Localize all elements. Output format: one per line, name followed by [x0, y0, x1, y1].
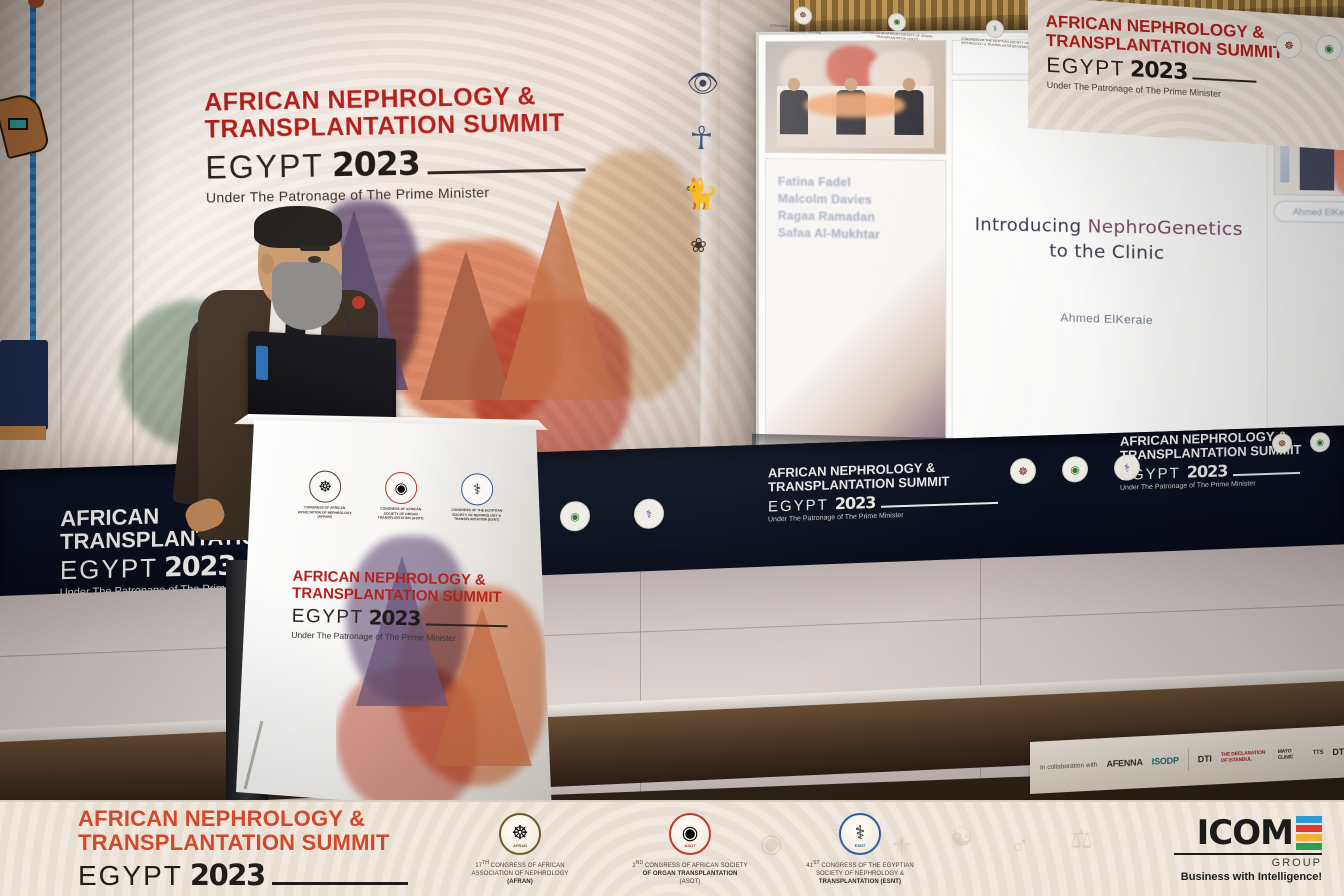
dark-banner-right-rule [1233, 472, 1300, 476]
afran-logo-icon: ☸ [1010, 458, 1036, 485]
bottom-bar-country: EGYPT [78, 860, 183, 892]
feather-icon: ❀ [690, 236, 707, 256]
dark-banner-mid-country: EGYPT [768, 497, 829, 516]
podium-title-line2: TRANSPLANTATION SUMMIT [292, 585, 508, 607]
afran-caption: 17TH CONGRESS OF AFRICAN ASSOCIATION OF … [456, 859, 584, 886]
partner-logo-afenna: AFENNA [1106, 757, 1142, 769]
partner-logo-declaration-of-istanbul: THE DECLARATION OF ISTANBUL [1221, 749, 1269, 764]
dark-banner-right-country: EGYPT [1120, 465, 1181, 484]
afran-caption: CONGRESS OF AFRICAN ASSOCIATION OF NEPHR… [768, 23, 838, 36]
bottom-logo-asot: ◉ ASOT 2ND CONGRESS OF AFRICAN SOCIETY O… [626, 813, 754, 886]
slide-title: Introducing NephroGenetics to the Clinic [975, 212, 1243, 268]
bastet-cat-icon: 🐈 [681, 180, 719, 211]
asot-caption: CONGRESS OF AFRICAN SOCIETY OF ORGAN TRA… [858, 29, 936, 42]
afran-caption: CONGRESS OF AFRICAN ASSOCIATION OF NEPHR… [298, 505, 352, 520]
bottom-bar-logo-row: ☸ AFRAN 17TH CONGRESS OF AFRICAN ASSOCIA… [456, 813, 924, 886]
esnt-seal-icon: ⚕ [461, 473, 494, 506]
conference-stage-photo: 👁 ☥ 🐈 ❀ AFRICAN NEPHROLOGY & TRANSPLANTA… [0, 0, 1344, 896]
afran-caption-rest: CONGRESS OF AFRICAN [489, 863, 565, 869]
podium-year: 2023 [368, 605, 420, 630]
esnt-seal-icon: ⚕ [986, 19, 1004, 38]
afran-caption-line3: (AFRAN) [507, 879, 533, 885]
afran-seal-icon: ☸ [794, 5, 812, 24]
bottom-bar-year: 2023 [190, 858, 265, 892]
asot-caption: 2ND CONGRESS OF AFRICAN SOCIETY OF ORGAN… [626, 859, 754, 886]
sponsor-name: ICOM [1197, 816, 1293, 850]
backdrop-year: 2023 [331, 144, 420, 185]
podium-logo-esnt: ⚕ CONGRESS OF THE EGYPTIAN SOCIETY OF NE… [450, 473, 505, 523]
collaboration-label: In collaboration with [1040, 761, 1097, 771]
asot-caption-line2: OF ORGAN TRANSPLANTATION [643, 871, 738, 877]
slide-title-line2: to the Clinic [1049, 240, 1164, 263]
speaker-eye [308, 256, 321, 263]
ankh-icon: ☥ [689, 122, 714, 155]
bottom-bar-rule [272, 882, 408, 885]
microphone-head-icon [352, 296, 365, 309]
hieroglyph-column: 👁 ☥ 🐈 ❀ [672, 69, 726, 390]
esnt-caption-line2: SOCIETY OF NEPHROLOGY & [816, 871, 904, 877]
bottom-bar-title-block: AFRICAN NEPHROLOGY & TRANSPLANTATION SUM… [78, 807, 408, 892]
dark-banner-left-country: EGYPT [60, 553, 158, 587]
ghost-logo-6: ⚖ [1070, 824, 1093, 855]
podium-logo-row: ☸ CONGRESS OF AFRICAN ASSOCIATION OF NEP… [298, 470, 505, 522]
dark-banner-left-year: 2023 [164, 551, 235, 584]
asot-seal-icon: ◉ [385, 472, 418, 505]
asot-seal-icon: ◉ [888, 12, 906, 31]
afran-seal-icon: ☸ AFRAN [499, 813, 541, 855]
asot-caption-rest: CONGRESS OF AFRICAN SOCIETY [643, 863, 747, 869]
upper-wall-banner: AFRICAN NEPHROLOGY & TRANSPLANTATION SUM… [1028, 0, 1344, 150]
podium-panel: ☸ CONGRESS OF AFRICAN ASSOCIATION OF NEP… [236, 420, 552, 816]
afran-caption-sup: TH [482, 860, 489, 866]
esnt-caption-rest: CONGRESS OF THE EGYPTIAN [820, 863, 914, 869]
partner-logo-dti-2: DTI [1332, 746, 1344, 757]
asot-caption: CONGRESS OF AFRICAN SOCIETY OF ORGAN TRA… [374, 507, 428, 522]
asot-seal-abbr: ASOT [671, 843, 709, 848]
backdrop-title-block: AFRICAN NEPHROLOGY & TRANSPLANTATION SUM… [204, 82, 586, 205]
esnt-caption: CONGRESS OF THE EGYPTIAN SOCIETY OF NEPH… [450, 508, 504, 523]
bottom-bar-title-line2: TRANSPLANTATION SUMMIT [78, 831, 408, 855]
upper-banner-rule [1192, 77, 1256, 82]
dark-banner-left-logos: ◉ ⚕ [560, 498, 664, 531]
laptop-sticker [256, 346, 268, 381]
backdrop-title-line2: TRANSPLANTATION SUMMIT [204, 109, 584, 143]
esnt-caption-sup: ST [813, 860, 820, 866]
asot-logo-icon: ◉ [1316, 34, 1342, 62]
panelist-name: Safaa Al-Mukhtar [778, 224, 935, 244]
ghost-logo-5: ♂ [1010, 830, 1030, 861]
bottom-brand-bar: ◉ ⚛ ⚜ ☯ ♂ ⚖ AFRICAN NEPHROLOGY & TRANSPL… [0, 800, 1344, 896]
esnt-seal-icon: ⚕ ESNT [839, 813, 881, 855]
esnt-caption: CONGRESS OF THE EGYPTIAN SOCIETY OF NEPH… [956, 36, 1034, 49]
podium-country: EGYPT [292, 606, 364, 630]
upper-banner-country: EGYPT [1046, 54, 1125, 82]
dark-banner-right-logos: ☸ ◉ [1272, 432, 1330, 454]
dark-banner-mid-rule [881, 502, 998, 508]
partner-logo-dti: DTI [1198, 753, 1212, 764]
partner-logo-mayo-clinic: MAYO CLINIC [1278, 748, 1304, 761]
esnt-seal-abbr: ESNT [841, 843, 879, 848]
dark-banner-mid-year: 2023 [835, 493, 876, 513]
sponsor-tagline: Business with Intelligence! [1174, 871, 1322, 883]
asot-logo-icon: ◉ [1062, 456, 1088, 483]
asot-caption-line3: (ASOT) [680, 879, 701, 885]
bottom-logo-esnt: ⚕ ESNT 41ST CONGRESS OF THE EGYPTIAN SOC… [796, 813, 924, 886]
podium-logo-asot: ◉ CONGRESS OF AFRICAN SOCIETY OF ORGAN T… [374, 472, 429, 522]
asot-seal-icon: ◉ ASOT [669, 813, 711, 855]
afran-seal-icon: ☸ [309, 470, 342, 503]
esnt-caption-line3: TRANSPLANTATION (ESNT) [819, 879, 901, 885]
podium-rule [425, 624, 507, 628]
upper-banner-logos: ☸ ◉ [1276, 31, 1342, 62]
speaker-name-label: Ahmed ElKeraie [1273, 200, 1344, 223]
dark-banner-middle-title: AFRICAN NEPHROLOGY & TRANSPLANTATION SUM… [768, 459, 998, 524]
panelist-name: Fatina Fadel [778, 173, 935, 192]
slide-title-part-a: Introducing [975, 214, 1088, 237]
slide-title-part-b: NephroGenetics [1088, 216, 1243, 240]
bottom-logo-afran: ☸ AFRAN 17TH CONGRESS OF AFRICAN ASSOCIA… [456, 813, 584, 886]
dark-banner-right-year: 2023 [1187, 461, 1228, 481]
speaker-hair [254, 206, 342, 248]
partner-logo-isodp: ISODP [1152, 755, 1179, 766]
podium-title-block: AFRICAN NEPHROLOGY & TRANSPLANTATION SUM… [291, 568, 508, 645]
podium-logo-afran: ☸ CONGRESS OF AFRICAN ASSOCIATION OF NEP… [298, 470, 353, 520]
sponsor-icom-logo[interactable]: ICOM GROUP Business with Intelligence! [1174, 816, 1322, 883]
asot-logo-icon: ◉ [560, 501, 590, 532]
sponsor-rule [1174, 853, 1322, 855]
afran-logo-icon: ☸ [1272, 433, 1292, 454]
sponsor-group-label: GROUP [1174, 857, 1322, 869]
upper-banner-year: 2023 [1130, 57, 1188, 85]
esnt-caption: 41ST CONGRESS OF THE EGYPTIAN SOCIETY OF… [796, 859, 924, 886]
ghost-logo-4: ☯ [950, 822, 973, 853]
afran-seal-abbr: AFRAN [501, 843, 539, 848]
panelist-names-slide: Fatina Fadel Malcolm Davies Ragaa Ramada… [765, 158, 946, 452]
panel-video-feed[interactable] [765, 40, 946, 155]
podium-artwork [336, 496, 566, 826]
bottom-bar-title-line1: AFRICAN NEPHROLOGY & [78, 807, 408, 831]
esnt-logo-icon: ⚕ [634, 498, 664, 529]
slide-author: Ahmed ElKeraie [1060, 311, 1153, 326]
eye-of-horus-icon: 👁 [686, 70, 720, 97]
asot-logo-icon: ◉ [1310, 432, 1330, 453]
sponsor-flag-icon [1296, 816, 1322, 850]
speaker-eyebrow [300, 246, 330, 251]
backdrop-country: EGYPT [205, 147, 324, 186]
afran-logo-icon: ☸ [1276, 31, 1302, 59]
partner-logo-tts: TTS [1313, 750, 1324, 757]
backdrop-rule [428, 168, 586, 174]
afran-caption-line2: ASSOCIATION OF NEPHROLOGY [471, 871, 568, 877]
speaker-ear [260, 254, 274, 274]
